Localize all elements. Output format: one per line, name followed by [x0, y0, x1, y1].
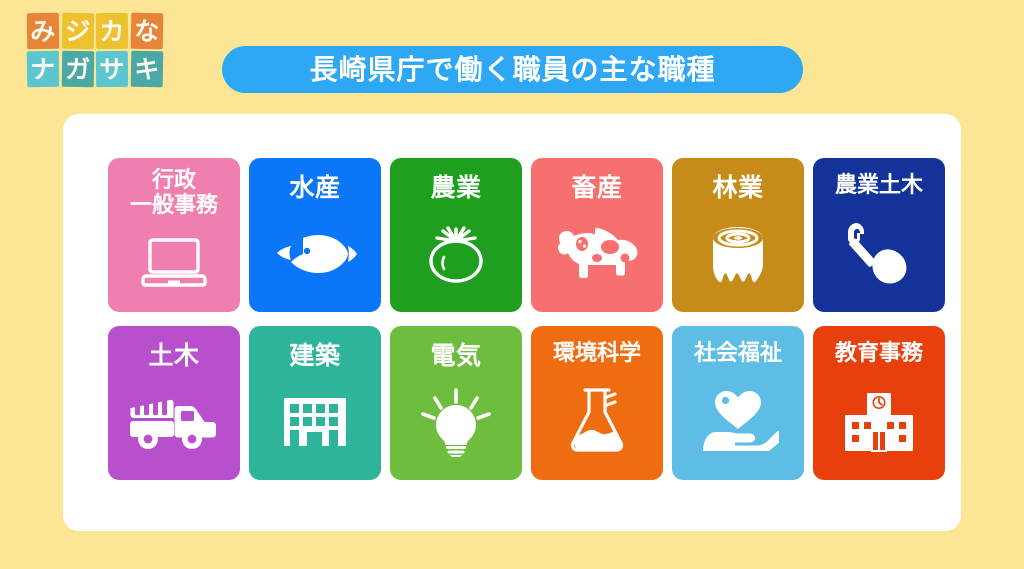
heart-in-hand-icon [672, 367, 804, 480]
job-card-label: 土木 [148, 342, 199, 370]
job-card-label: 環境科学 [553, 342, 641, 367]
logo-tile: ガ [61, 51, 93, 87]
page-title-banner: 長崎県庁で働く職員の主な職種 [222, 46, 803, 93]
cow-icon [531, 202, 663, 312]
job-category-grid: 行政 一般事務 水産 農業 畜産 林業 [108, 158, 945, 480]
job-card-label: 教育事務 [835, 342, 923, 367]
job-card[interactable]: 土木 [108, 326, 240, 480]
laptop-icon [108, 218, 240, 312]
tree-stump-icon [672, 202, 804, 312]
dump-truck-icon [108, 370, 240, 480]
job-card-label: 畜産 [571, 174, 622, 202]
logo-tile: ジ [61, 13, 93, 49]
job-card[interactable]: 行政 一般事務 [108, 158, 240, 312]
job-card-label: 建築 [289, 342, 340, 370]
tomato-icon [390, 202, 522, 312]
school-building-icon [813, 367, 945, 480]
content-panel: 行政 一般事務 水産 農業 畜産 林業 [63, 114, 961, 531]
job-card[interactable]: 畜産 [531, 158, 663, 312]
logo-tile: カ [96, 13, 128, 49]
logo-row-2: ナガサキ [27, 51, 162, 87]
job-card[interactable]: 社会福祉 [672, 326, 804, 480]
job-card-label: 農業土木 [835, 174, 923, 199]
job-card-label: 社会福祉 [694, 342, 782, 367]
logo-tile: な [130, 13, 162, 50]
logo-tile: サ [96, 51, 128, 87]
flask-icon [531, 367, 663, 480]
job-card[interactable]: 林業 [672, 158, 804, 312]
shovel-icon [813, 199, 945, 312]
job-card[interactable]: 教育事務 [813, 326, 945, 480]
building-icon [249, 370, 381, 480]
job-card-label: 電気 [430, 342, 481, 370]
job-card[interactable]: 環境科学 [531, 326, 663, 480]
job-card[interactable]: 農業土木 [813, 158, 945, 312]
brand-logo: みジカなナガサキ [27, 13, 162, 89]
job-card[interactable]: 建築 [249, 326, 381, 480]
logo-tile: み [27, 13, 59, 49]
job-card[interactable]: 電気 [390, 326, 522, 480]
job-card-label: 行政 一般事務 [130, 169, 218, 218]
job-card[interactable]: 水産 [249, 158, 381, 312]
job-card[interactable]: 農業 [390, 158, 522, 312]
logo-row-1: みジカな [27, 13, 162, 49]
job-card-label: 林業 [712, 174, 763, 202]
job-card-label: 農業 [430, 174, 481, 202]
lightbulb-icon [390, 370, 522, 480]
logo-tile: ナ [27, 51, 59, 87]
fish-icon [249, 202, 381, 312]
job-card-label: 水産 [289, 174, 340, 202]
page-title: 長崎県庁で働く職員の主な職種 [309, 56, 715, 84]
logo-tile: キ [130, 51, 162, 88]
